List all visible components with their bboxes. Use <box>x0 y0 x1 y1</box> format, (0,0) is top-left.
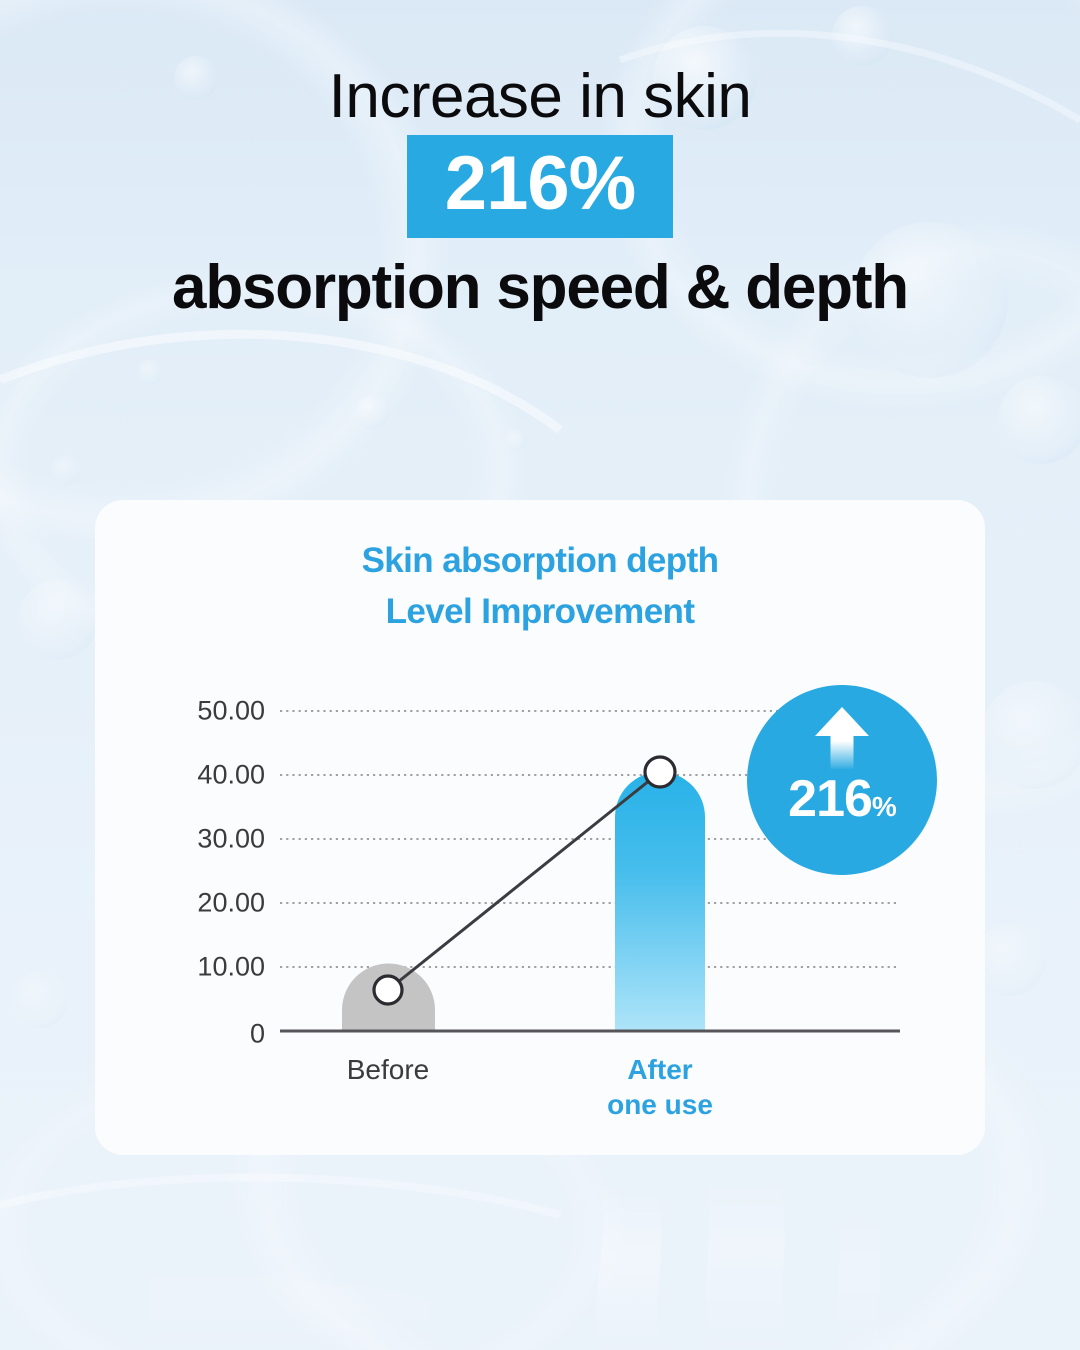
arrow-up-icon <box>815 707 869 769</box>
y-tick-label: 0 <box>135 1019 265 1050</box>
badge-unit: % <box>872 791 896 822</box>
data-point-before <box>374 976 402 1004</box>
headline-line-1: Increase in skin <box>0 64 1080 129</box>
bar-after <box>615 772 705 1031</box>
badge-number: 216 <box>788 770 872 828</box>
data-point-after <box>645 757 675 787</box>
y-tick-label: 40.00 <box>135 760 265 791</box>
chart-card: Skin absorption depth Level Improvement <box>95 500 985 1155</box>
y-tick-label: 30.00 <box>135 824 265 855</box>
y-tick-label: 50.00 <box>135 696 265 727</box>
headline-highlight-row: 216% <box>0 135 1080 238</box>
headline: Increase in skin 216% absorption speed &… <box>0 64 1080 322</box>
x-label-after-line-1: After <box>607 1052 713 1087</box>
increase-badge: 216% <box>747 685 937 875</box>
headline-highlight-percentage: 216% <box>407 135 673 238</box>
x-label-before-text: Before <box>347 1052 430 1087</box>
chart-y-axis: 50.00 40.00 30.00 20.00 10.00 0 <box>125 500 265 1155</box>
x-label-after: After one use <box>607 1052 713 1122</box>
y-tick-label: 20.00 <box>135 888 265 919</box>
headline-line-3: absorption speed & depth <box>0 254 1080 322</box>
x-label-after-line-2: one use <box>607 1087 713 1122</box>
x-label-before: Before <box>347 1052 430 1087</box>
y-tick-label: 10.00 <box>135 952 265 983</box>
badge-value: 216% <box>747 773 937 825</box>
